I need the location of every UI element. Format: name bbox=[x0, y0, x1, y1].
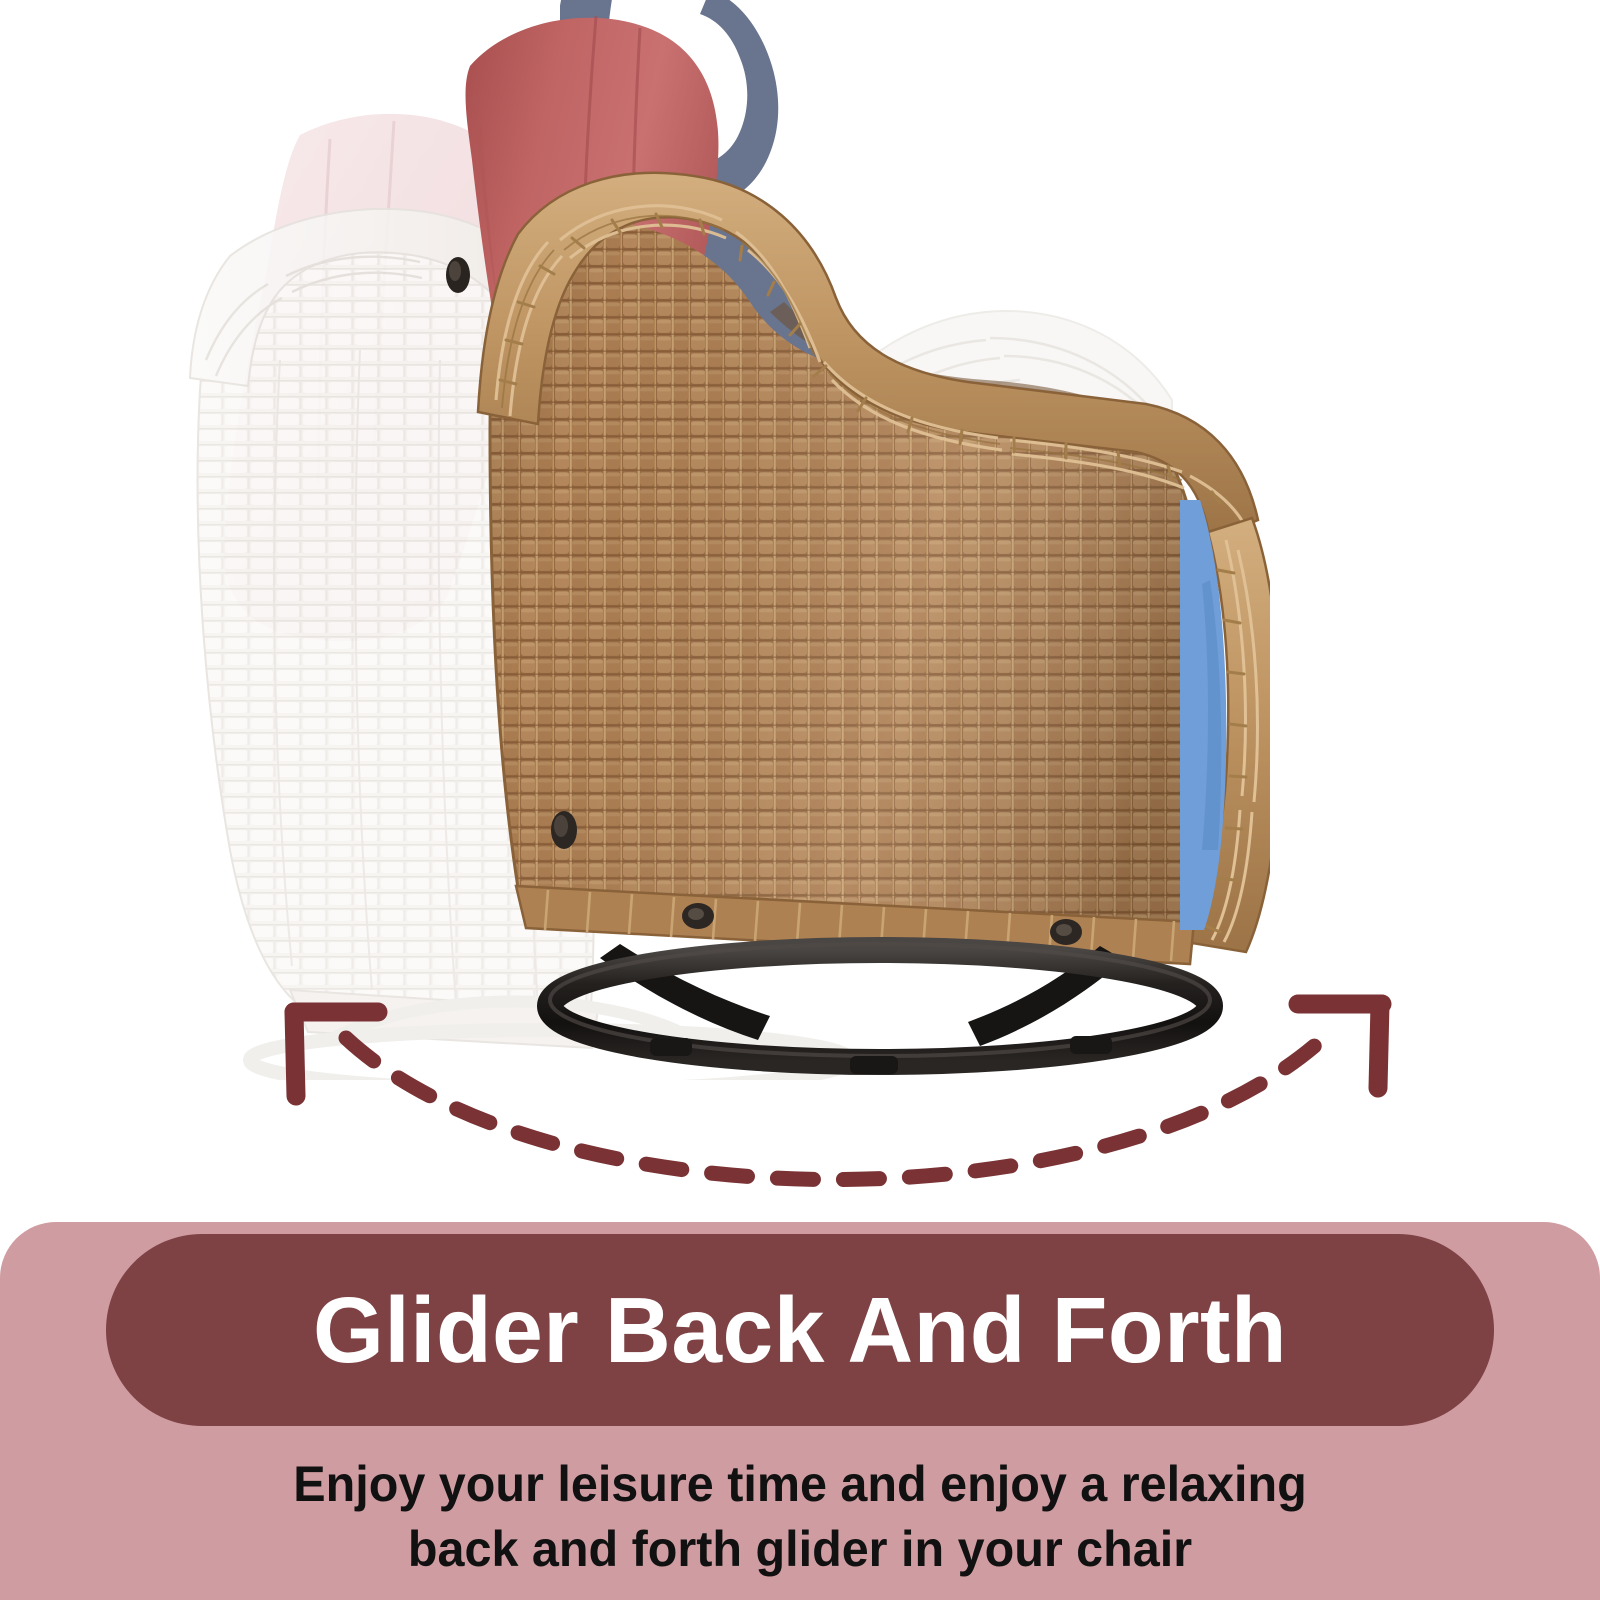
wicker-chair-body bbox=[350, 80, 1270, 980]
product-scene bbox=[0, 0, 1600, 1230]
product-feature-graphic: Glider Back And Forth Enjoy your leisure… bbox=[0, 0, 1600, 1600]
backrest-fastener-bolt bbox=[430, 245, 490, 305]
dashed-arc-icon bbox=[346, 1030, 1332, 1180]
motion-arrows bbox=[250, 960, 1420, 1230]
page-title: Glider Back And Forth bbox=[313, 1284, 1287, 1377]
caption-subtitle: Enjoy your leisure time and enjoy a rela… bbox=[0, 1452, 1600, 1582]
subtitle-line-2: back and forth glider in your chair bbox=[24, 1517, 1576, 1582]
title-banner: Glider Back And Forth bbox=[106, 1234, 1494, 1426]
subtitle-line-1: Enjoy your leisure time and enjoy a rela… bbox=[24, 1452, 1576, 1517]
seated-person-denim bbox=[1180, 500, 1250, 930]
